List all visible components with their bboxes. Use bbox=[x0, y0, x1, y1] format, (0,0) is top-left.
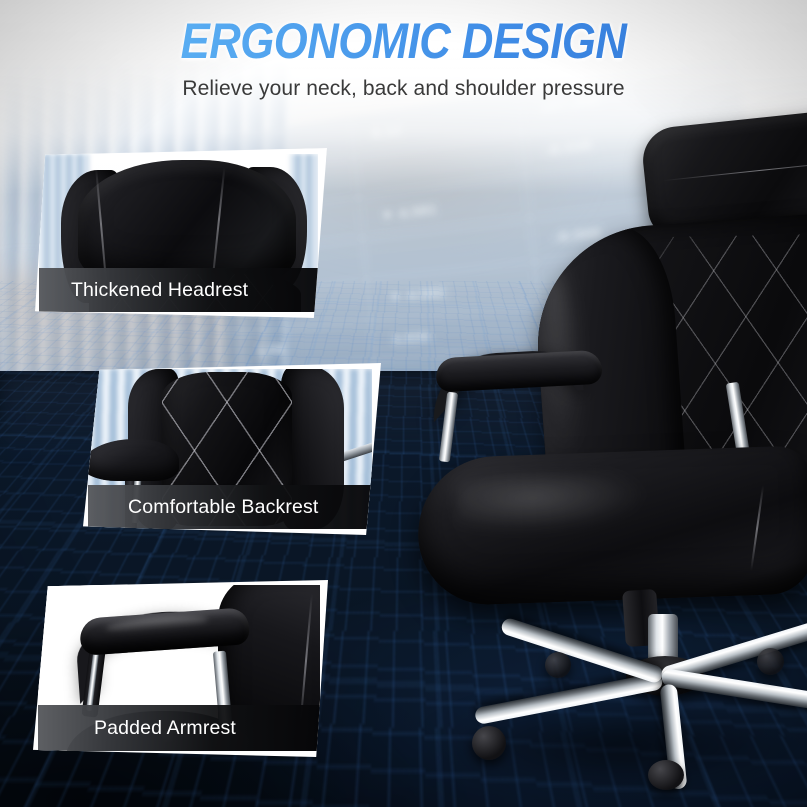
callout-2-label: Comfortable Backrest bbox=[128, 496, 319, 519]
callout-3-inner: Padded Armrest bbox=[38, 585, 320, 751]
page-title: ERGONOMIC DESIGN bbox=[12, 15, 795, 65]
backrest-armrest-pad bbox=[88, 439, 179, 481]
callout-comfortable-backrest[interactable]: Comfortable Backrest bbox=[83, 363, 381, 535]
product-marketing-image: 8.12187,492-8.538▼ 4.581-8.0680.19▼ 4.58… bbox=[0, 0, 807, 807]
ticker-cell: -8.068 bbox=[553, 224, 602, 246]
callout-1-label: Thickened Headrest bbox=[71, 279, 248, 302]
callout-2-inner: Comfortable Backrest bbox=[88, 369, 372, 529]
callout-3-caption-bar: Padded Armrest bbox=[38, 705, 320, 751]
callout-1-caption-bar: Thickened Headrest bbox=[39, 268, 318, 312]
callout-padded-armrest[interactable]: Padded Armrest bbox=[33, 580, 328, 757]
page-subtitle: Relieve your neck, back and shoulder pre… bbox=[0, 77, 807, 101]
ticker-cell: ▼ 4.581 bbox=[380, 200, 438, 223]
callout-3-label: Padded Armrest bbox=[94, 717, 236, 740]
header-block: ERGONOMIC DESIGN Relieve your neck, back… bbox=[0, 0, 807, 110]
callout-1-inner: Thickened Headrest bbox=[39, 154, 318, 312]
callout-thickened-headrest[interactable]: Thickened Headrest bbox=[35, 148, 327, 318]
callout-2-caption-bar: Comfortable Backrest bbox=[88, 485, 372, 529]
